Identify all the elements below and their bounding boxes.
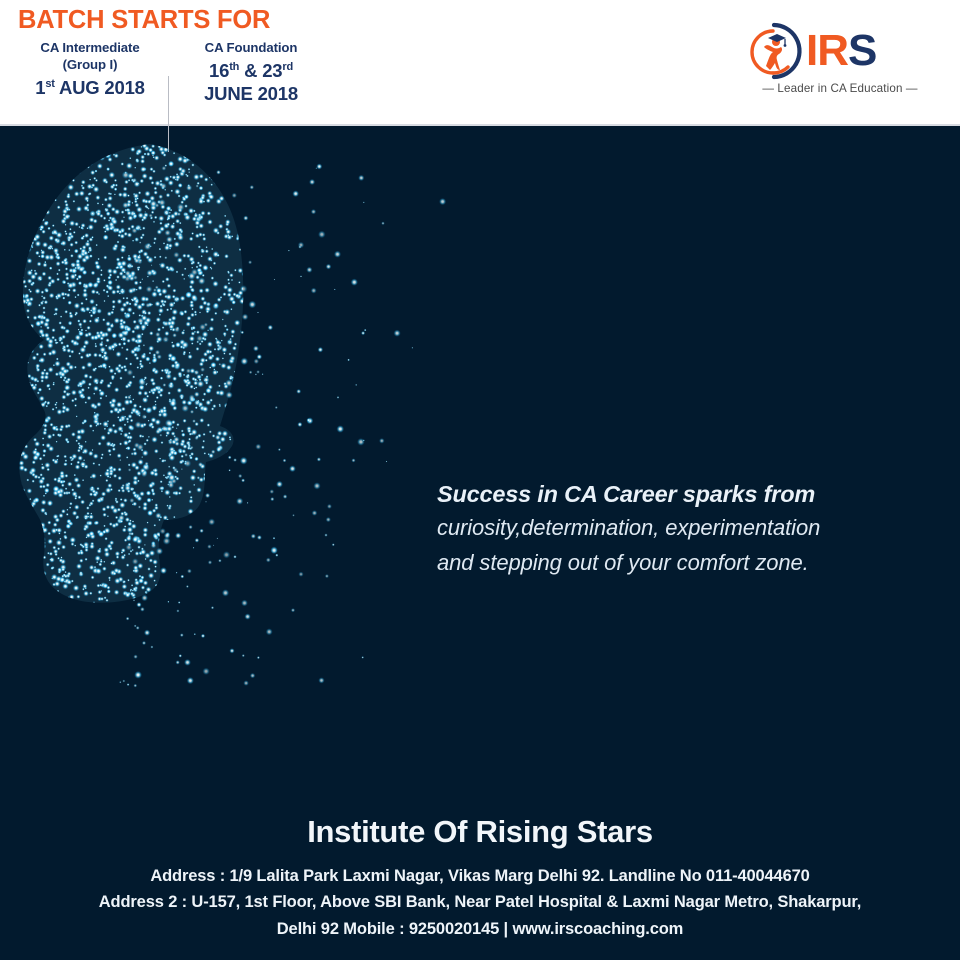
date-ordinal-foundation-1: th (229, 61, 239, 73)
face-dispersion-particles (118, 164, 446, 688)
tagline-quote: Success in CA Career sparks from curiosi… (437, 478, 917, 581)
address-block: Address : 1/9 Lalita Park Laxmi Nagar, V… (0, 863, 960, 943)
wordmark-s: S (848, 26, 876, 75)
batch-starts-title: BATCH STARTS FOR (16, 8, 346, 34)
course-group-intermediate: (Group I) (16, 57, 164, 74)
batch-column-ca-foundation: CA Foundation 16th & 23rd JUNE 2018 (176, 40, 326, 105)
course-date-foundation: 16th & 23rd (176, 59, 326, 83)
footer-block: Institute Of Rising Stars Address : 1/9 … (0, 812, 960, 943)
header-bar: BATCH STARTS FOR CA Intermediate (Group … (0, 0, 960, 126)
logo-tagline: — Leader in CA Education — (746, 82, 934, 95)
quote-line-1: Success in CA Career sparks from (437, 478, 917, 511)
address-line-2: Address 2 : U-157, 1st Floor, Above SBI … (0, 889, 960, 916)
logo-row: IRS (744, 22, 876, 80)
quote-line-3: and stepping out of your comfort zone. (437, 546, 917, 581)
date-day-intermediate: 1 (35, 77, 45, 98)
batch-column-ca-intermediate: CA Intermediate (Group I) 1st AUG 2018 (16, 40, 164, 100)
date-ordinal-intermediate: st (45, 78, 54, 90)
date-month-intermediate: AUG 2018 (55, 77, 145, 98)
wordmark-ir: IR (806, 26, 848, 75)
date-ordinal-foundation-2: rd (282, 61, 293, 73)
course-name-foundation: CA Foundation (176, 40, 326, 57)
address-line-1: Address : 1/9 Lalita Park Laxmi Nagar, V… (0, 863, 960, 890)
irs-graduate-circle-icon (744, 22, 804, 80)
date-month-foundation: & 23 (239, 60, 282, 81)
course-name-intermediate: CA Intermediate (16, 40, 164, 57)
face-core-particles (0, 126, 300, 766)
institute-name: Institute Of Rising Stars (0, 812, 960, 852)
quote-line-2: curiosity,determination, experimentation (437, 511, 917, 546)
course-date-foundation-month: JUNE 2018 (176, 83, 326, 105)
batch-date-columns: CA Intermediate (Group I) 1st AUG 2018 C… (16, 40, 326, 122)
course-date-intermediate: 1st AUG 2018 (16, 76, 164, 100)
address-line-3: Delhi 92 Mobile : 9250020145 | www.irsco… (0, 916, 960, 943)
poster-canvas: BATCH STARTS FOR CA Intermediate (Group … (0, 0, 960, 960)
irs-wordmark: IRS (806, 29, 876, 73)
batch-announcement-block: BATCH STARTS FOR CA Intermediate (Group … (16, 8, 346, 120)
particle-face-svg (0, 126, 470, 766)
irs-logo[interactable]: IRS — Leader in CA Education — (744, 22, 934, 104)
date-day-foundation: 16 (209, 60, 229, 81)
particle-face-artwork (0, 126, 470, 766)
